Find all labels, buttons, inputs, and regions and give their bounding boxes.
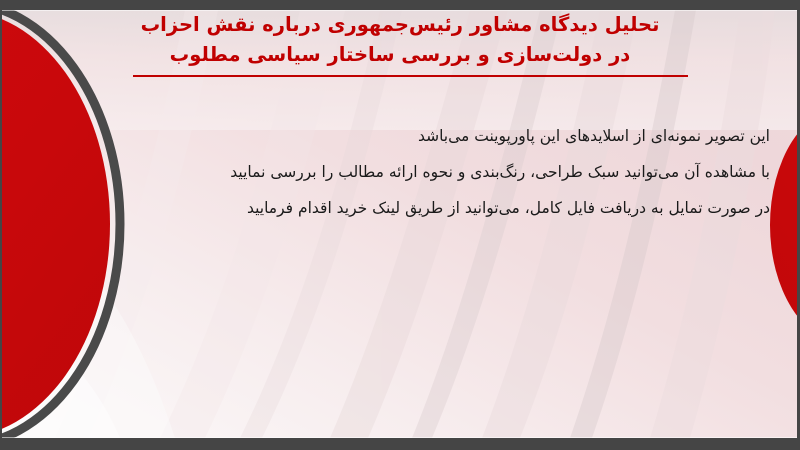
body-text-line-2: با مشاهده آن می‌توانید سبک طراحی، رنگ‌بن…: [30, 154, 770, 190]
title-underline-rule: [133, 75, 688, 77]
slide-frame-left-edge: [0, 0, 2, 450]
body-text-line-1: این تصویر نمونه‌ای از اسلایدهای این پاور…: [30, 118, 770, 154]
body-text-line-3: در صورت تمایل به دریافت فایل کامل، می‌تو…: [30, 190, 770, 226]
slide-body-text: این تصویر نمونه‌ای از اسلایدهای این پاور…: [30, 118, 770, 226]
slide-title: تحلیل دیدگاه مشاور رئیس‌جمهوری درباره نق…: [100, 10, 700, 70]
presentation-slide: تحلیل دیدگاه مشاور رئیس‌جمهوری درباره نق…: [0, 0, 800, 450]
slide-frame-bottom-bar: [0, 438, 800, 450]
slide-title-line-2: در دولت‌سازی و بررسی ساختار سیاسی مطلوب: [100, 40, 700, 70]
slide-title-line-1: تحلیل دیدگاه مشاور رئیس‌جمهوری درباره نق…: [100, 10, 700, 40]
slide-frame-top-hairline: [0, 10, 800, 11]
slide-frame-top-bar: [0, 0, 800, 10]
